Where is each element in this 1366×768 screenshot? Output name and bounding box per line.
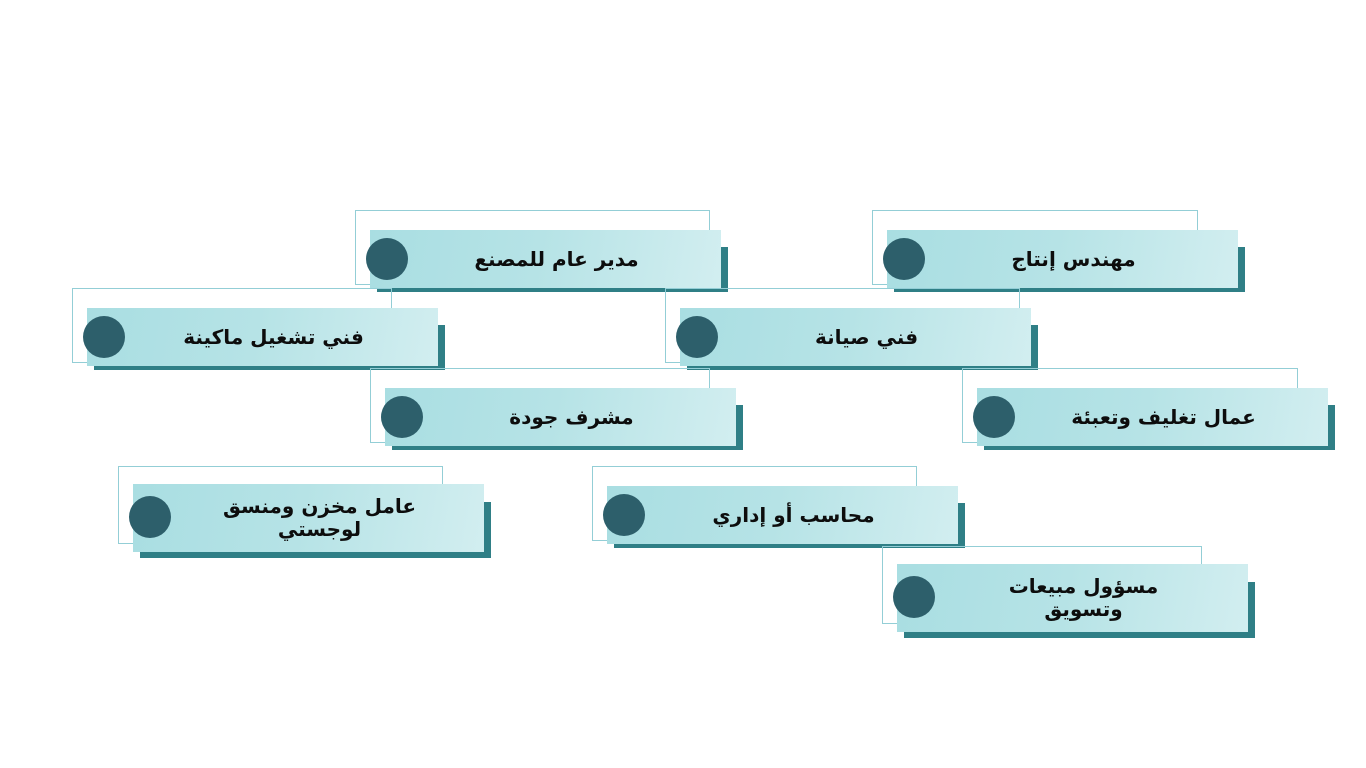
node-bullet-icon [893,576,935,618]
org-node-card[interactable]: محاسب أو إداري [607,486,958,544]
org-node-card[interactable]: مدير عام للمصنع [370,230,721,288]
org-node-maintenance-technician[interactable]: فني صيانة [665,288,1030,368]
org-node-card[interactable]: فني تشغيل ماكينة [87,308,438,366]
org-node-card[interactable]: عامل مخزن ومنسق لوجستي [133,484,484,552]
org-node-card[interactable]: مشرف جودة [385,388,736,446]
node-bullet-icon [129,496,171,538]
node-bullet-icon [381,396,423,438]
org-node-label: مهندس إنتاج [971,248,1153,271]
node-bullet-icon [83,316,125,358]
org-node-machine-operator[interactable]: فني تشغيل ماكينة [72,288,437,368]
org-node-label: فني صيانة [775,326,936,349]
node-bullet-icon [603,494,645,536]
org-node-accountant-admin[interactable]: محاسب أو إداري [592,466,957,546]
node-bullet-icon [973,396,1015,438]
org-node-label: عمال تغليف وتعبئة [1031,406,1274,429]
org-node-packaging-workers[interactable]: عمال تغليف وتعبئة [962,368,1327,448]
org-chart-canvas: مدير عام للمصنع مهندس إنتاج فني تشغيل ما… [0,0,1366,768]
org-node-label: فني تشغيل ماكينة [143,326,382,349]
org-node-label: مسؤول مبيعات وتسويق [969,575,1177,621]
org-node-warehouse-logistics[interactable]: عامل مخزن ومنسق لوجستي [118,466,483,558]
org-node-sales-marketing[interactable]: مسؤول مبيعات وتسويق [882,546,1247,638]
node-bullet-icon [676,316,718,358]
org-node-general-manager[interactable]: مدير عام للمصنع [355,210,720,290]
org-node-card[interactable]: فني صيانة [680,308,1031,366]
org-node-card[interactable]: مهندس إنتاج [887,230,1238,288]
org-node-label: عامل مخزن ومنسق لوجستي [183,495,434,541]
org-node-card[interactable]: عمال تغليف وتعبئة [977,388,1328,446]
org-node-label: مشرف جودة [469,406,651,429]
node-bullet-icon [883,238,925,280]
org-node-label: مدير عام للمصنع [434,248,656,271]
org-node-quality-supervisor[interactable]: مشرف جودة [370,368,735,448]
org-node-production-engineer[interactable]: مهندس إنتاج [872,210,1237,290]
org-node-card[interactable]: مسؤول مبيعات وتسويق [897,564,1248,632]
org-node-label: محاسب أو إداري [672,504,892,527]
node-bullet-icon [366,238,408,280]
